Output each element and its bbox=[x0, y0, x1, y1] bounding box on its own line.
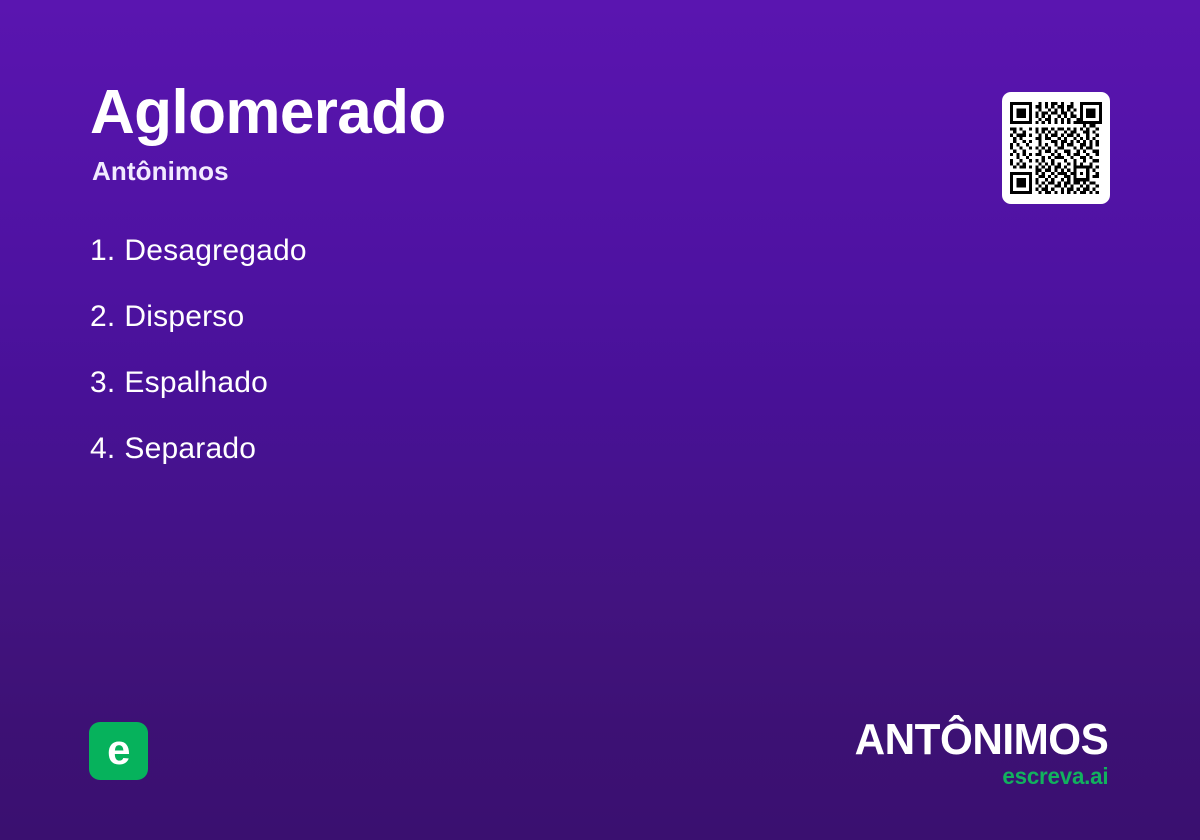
list-item: 1.Desagregado bbox=[90, 236, 910, 266]
list-item-label: Separado bbox=[124, 432, 256, 465]
list-item-index: 4. bbox=[90, 432, 115, 465]
list-item-index: 3. bbox=[90, 366, 115, 399]
header: Aglomerado Antônimos bbox=[90, 82, 910, 184]
brand-wordmark[interactable]: ANTÔNIMOS escreva.ai bbox=[844, 718, 1108, 788]
escreva-logo-icon[interactable]: e bbox=[89, 722, 148, 780]
brand-wordmark-sub: escreva.ai bbox=[852, 765, 1108, 788]
antonym-list: 1.Desagregado 2.Disperso 3.Espalhado 4.S… bbox=[90, 236, 910, 464]
list-item-label: Desagregado bbox=[124, 234, 306, 267]
antonym-card: Aglomerado Antônimos 1.Desagregado 2.Dis… bbox=[0, 0, 1200, 840]
page-subtitle: Antônimos bbox=[92, 158, 910, 184]
brand-mark-letter: e bbox=[107, 729, 130, 771]
list-item-label: Disperso bbox=[124, 300, 244, 333]
brand-wordmark-main: ANTÔNIMOS bbox=[854, 718, 1108, 762]
qr-code-icon[interactable] bbox=[1002, 92, 1110, 204]
list-item-index: 2. bbox=[90, 300, 115, 333]
list-item-index: 1. bbox=[90, 234, 115, 267]
list-item-label: Espalhado bbox=[124, 366, 268, 399]
list-item: 3.Espalhado bbox=[90, 368, 910, 398]
page-title: Aglomerado bbox=[90, 82, 910, 144]
list-item: 2.Disperso bbox=[90, 302, 910, 332]
list-item: 4.Separado bbox=[90, 434, 910, 464]
